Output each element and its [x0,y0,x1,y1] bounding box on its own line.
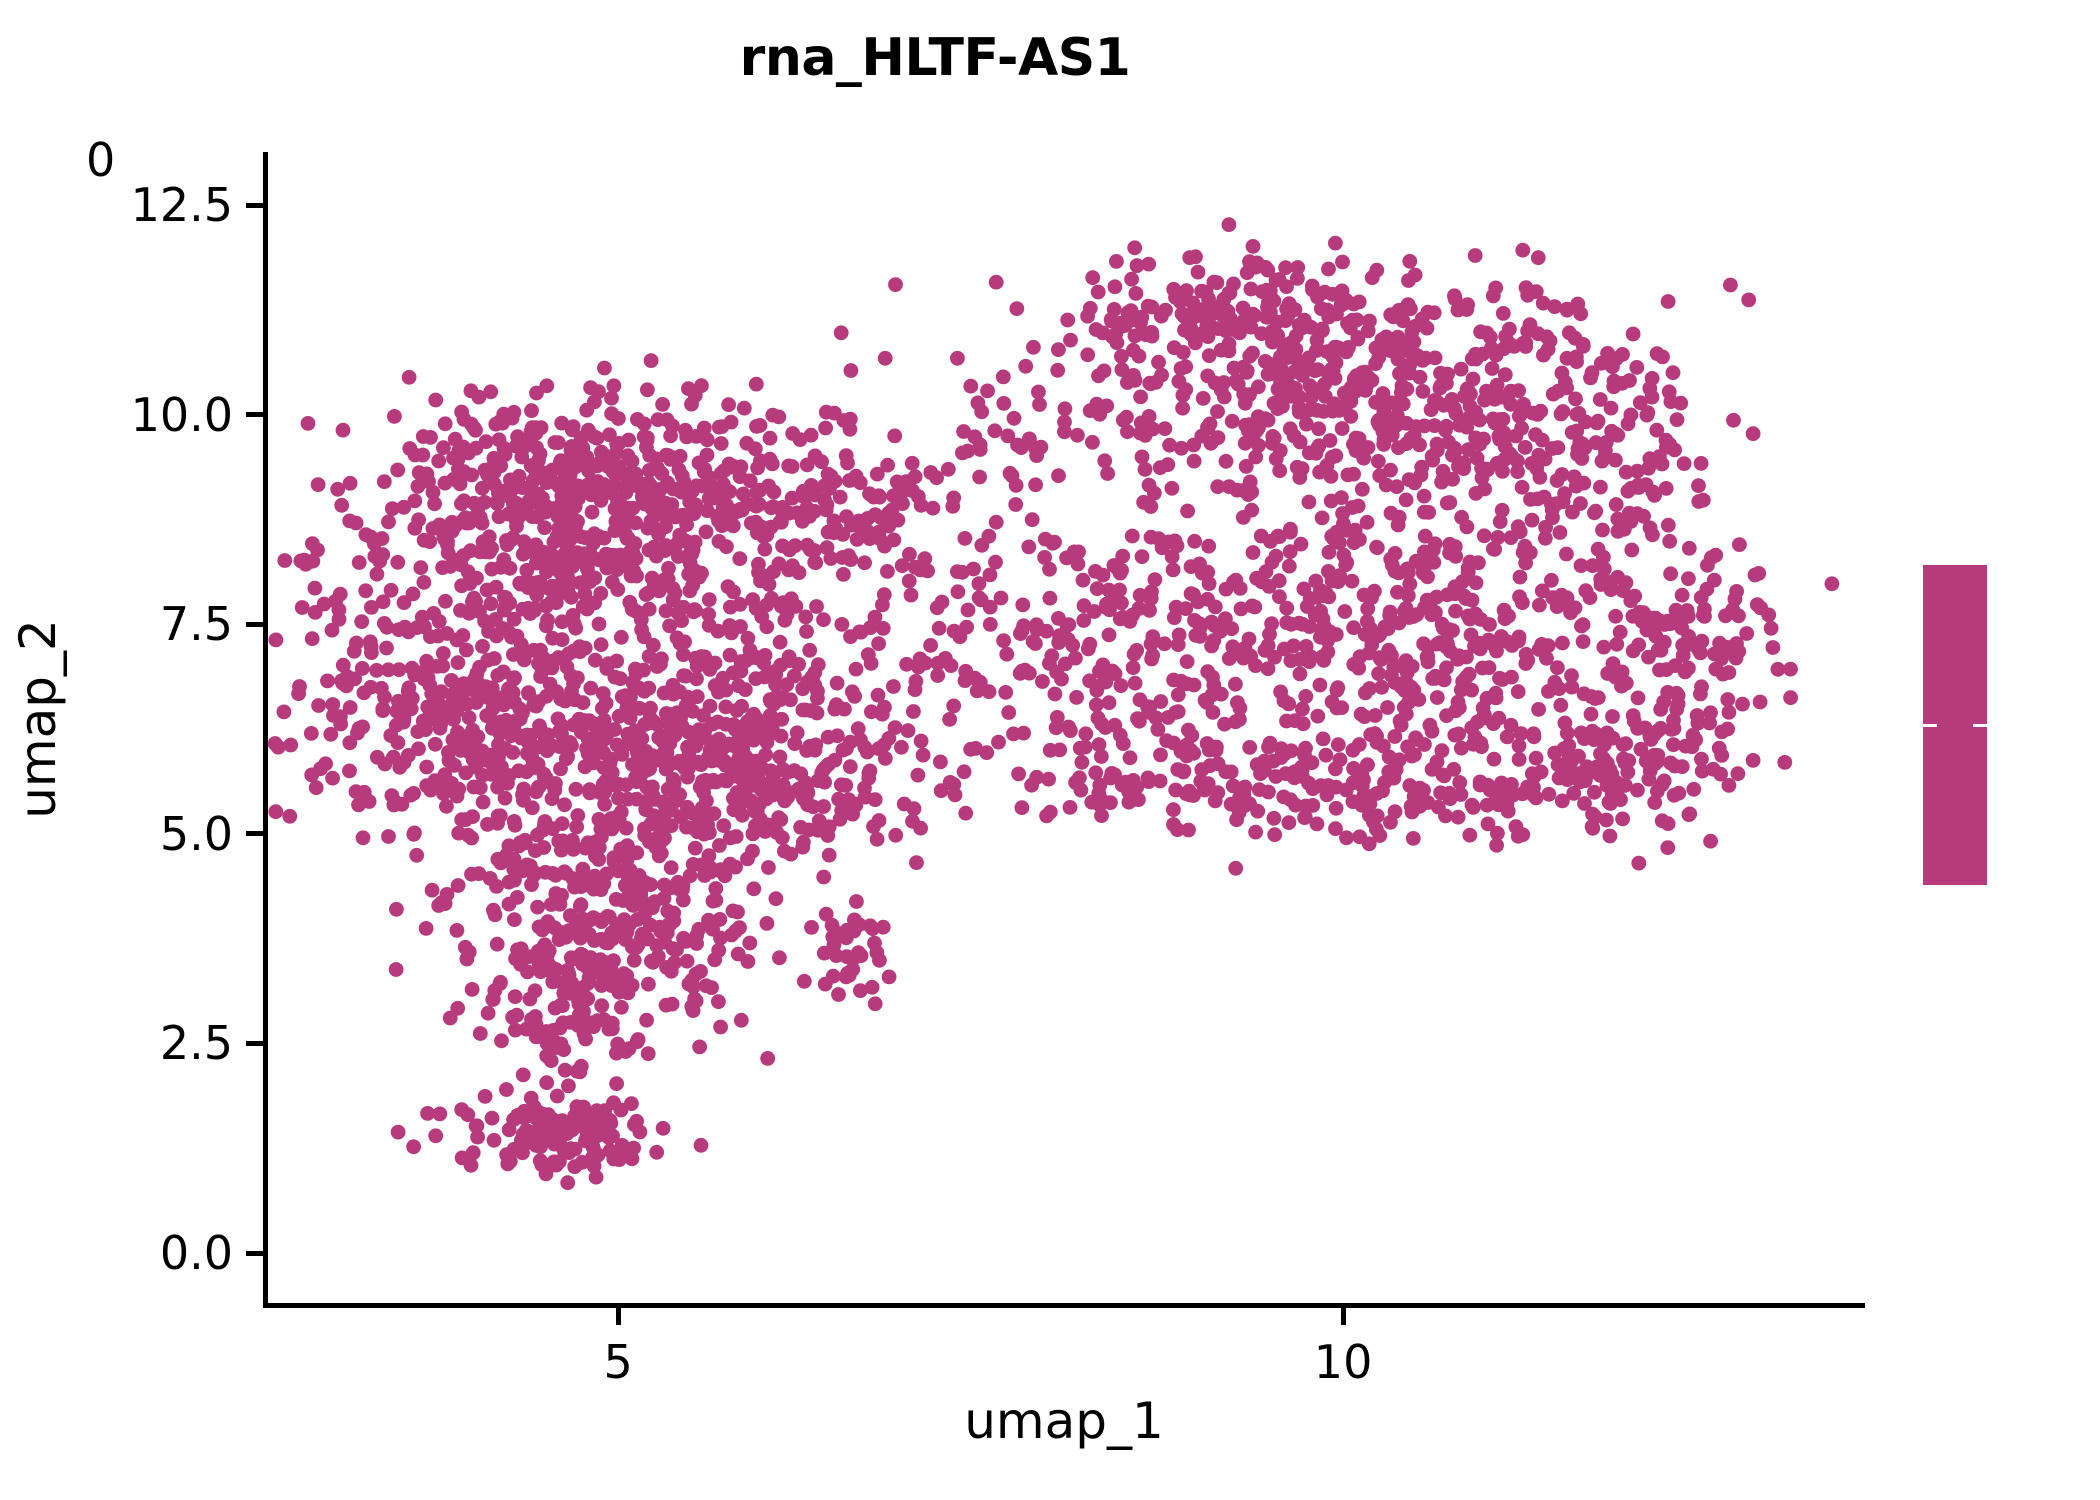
scatter-point [1108,279,1123,294]
scatter-point [1534,765,1549,780]
scatter-point [640,382,655,397]
scatter-point [886,533,901,548]
scatter-point [692,722,707,737]
scatter-point [1045,536,1060,551]
scatter-point [987,423,1002,438]
scatter-point [1370,540,1385,555]
scatter-point [723,648,738,663]
scatter-point [1655,350,1670,365]
scatter-point [1298,741,1313,756]
scatter-point [1479,326,1494,341]
scatter-point [471,866,486,881]
scatter-point [679,430,694,445]
scatter-point [1250,804,1265,819]
scatter-point [1360,757,1375,772]
scatter-point [1187,534,1202,549]
scatter-point [334,674,349,689]
scatter-point [629,845,644,860]
scatter-point [1319,748,1334,763]
scatter-point [1365,270,1380,285]
scatter-point [1362,646,1377,661]
scatter-point [983,617,998,632]
scatter-point [612,709,627,724]
scatter-point [811,657,826,672]
scatter-point [1206,705,1221,720]
scatter-point [1015,598,1030,613]
scatter-point [676,647,691,662]
scatter-point [283,738,298,753]
scatter-point [1015,664,1030,679]
scatter-point [1573,306,1588,321]
scatter-point [381,515,396,530]
scatter-point [1248,825,1263,840]
scatter-point [652,584,667,599]
x-tick-mark [1341,1308,1346,1325]
scatter-point [295,600,310,615]
scatter-point [1021,540,1036,555]
scatter-point [726,904,741,919]
scatter-point [467,421,482,436]
scatter-point [453,603,468,618]
scatter-point [1011,767,1026,782]
scatter-point [1571,442,1586,457]
scatter-point [613,671,628,686]
scatter-point [677,761,692,776]
scatter-point [671,606,686,621]
scatter-point [1710,647,1725,662]
scatter-point [611,864,626,879]
scatter-point [491,485,506,500]
scatter-point [1222,217,1237,232]
scatter-point [545,791,560,806]
scatter-point [1663,756,1678,771]
scatter-point [617,554,632,569]
scatter-point [428,737,443,752]
scatter-point [1565,505,1580,520]
scatter-point [1277,693,1292,708]
scatter-point [711,994,726,1009]
scatter-point [1685,739,1700,754]
scatter-point [520,858,535,873]
scatter-point [932,621,947,636]
scatter-point [607,378,622,393]
scatter-point [870,467,885,482]
scatter-point [458,766,473,781]
scatter-point [484,562,499,577]
scatter-point [619,777,634,792]
scatter-point [1825,576,1840,591]
scatter-point [801,487,816,502]
scatter-point [389,962,404,977]
scatter-point [1466,800,1481,815]
scatter-point [351,798,366,813]
scatter-point [1504,777,1519,792]
scatter-point [1325,694,1340,709]
scatter-point [1283,792,1298,807]
scatter-point [827,525,842,540]
scatter-point [537,937,552,952]
scatter-point [1026,634,1041,649]
scatter-point [723,460,738,475]
scatter-point [905,814,920,829]
scatter-point [637,630,652,645]
scatter-point [1777,755,1792,770]
scatter-point [1477,528,1492,543]
scatter-point [1421,505,1436,520]
scatter-point [1451,810,1466,825]
scatter-point [358,583,373,598]
scatter-point [1339,830,1354,845]
scatter-point [1468,347,1483,362]
scatter-point [1488,416,1503,431]
scatter-point [1349,431,1364,446]
scatter-point [1343,409,1358,424]
scatter-point [1114,596,1129,611]
scatter-point [989,275,1004,290]
scatter-point [1702,716,1717,731]
colorbar-tick-left [1923,724,1937,727]
scatter-point [664,497,679,512]
scatter-point [1305,781,1320,796]
scatter-point [524,877,539,892]
scatter-point [597,477,612,492]
scatter-point [356,830,371,845]
scatter-point [1761,608,1776,623]
scatter-point [615,747,630,762]
scatter-point [1518,440,1533,455]
scatter-point [1029,617,1044,632]
scatter-point [1371,454,1386,469]
y-tick-label: 2.5 [33,1016,233,1070]
scatter-point [1135,450,1150,465]
scatter-point [1662,437,1677,452]
scatter-point [489,879,504,894]
scatter-point [1310,709,1325,724]
scatter-point [572,997,587,1012]
scatter-point [450,789,465,804]
scatter-point [494,1033,509,1048]
x-tick-label: 10 [1314,1335,1373,1389]
scatter-point [872,490,887,505]
scatter-point [1124,313,1139,328]
scatter-point [679,820,694,835]
scatter-point [277,705,292,720]
scatter-point [1783,690,1798,705]
scatter-point [401,625,416,640]
scatter-point [706,894,721,909]
scatter-point [1399,493,1414,508]
scatter-point [723,600,738,615]
scatter-point [436,646,451,661]
scatter-point [764,500,779,515]
scatter-point [1515,243,1530,258]
scatter-point [505,745,520,760]
scatter-point [623,875,638,890]
scatter-point [731,947,746,962]
scatter-point [642,543,657,558]
scatter-point [689,671,704,686]
scatter-point [1210,275,1225,290]
scatter-point [849,894,864,909]
scatter-point [643,701,658,716]
scatter-point [567,880,582,895]
scatter-point [412,465,427,480]
scatter-point [1663,566,1678,581]
scatter-point [567,616,582,631]
scatter-point [1632,605,1647,620]
scatter-point [529,784,544,799]
scatter-point [391,735,406,750]
scatter-point [989,515,1004,530]
scatter-point [1028,477,1043,492]
scatter-point [1051,611,1066,626]
scatter-point [545,579,560,594]
scatter-point [810,706,825,721]
scatter-point [665,997,680,1012]
scatter-point [507,814,522,829]
scatter-point [1448,549,1463,564]
scatter-point [1391,440,1406,455]
scatter-point [1099,399,1114,414]
scatter-point [309,780,324,795]
scatter-point [672,462,687,477]
scatter-point [1690,708,1705,723]
scatter-point [958,806,973,821]
scatter-point [575,862,590,877]
scatter-point [1562,325,1577,340]
scatter-point [551,435,566,450]
scatter-point [1748,568,1763,583]
scatter-point [1516,545,1531,560]
scatter-point [1108,327,1123,342]
scatter-point [413,560,428,575]
scatter-point [1447,586,1462,601]
scatter-point [1107,767,1122,782]
scatter-point [1205,670,1220,685]
scatter-point [1535,433,1550,448]
scatter-point [1425,724,1440,739]
scatter-point [759,619,774,634]
scatter-point [638,875,653,890]
scatter-point [465,982,480,997]
scatter-point [349,784,364,799]
scatter-point [458,940,473,955]
scatter-point [476,795,491,810]
scatter-point [407,521,422,536]
scatter-point [1178,382,1193,397]
scatter-point [1394,718,1409,733]
scatter-point [1455,574,1470,589]
scatter-point [744,516,759,531]
scatter-point [1360,515,1375,530]
scatter-point [1558,375,1573,390]
scatter-point [1512,752,1527,767]
scatter-point [1269,451,1284,466]
scatter-point [505,1010,520,1025]
scatter-point [1531,250,1546,265]
scatter-point [590,458,605,473]
scatter-point [1407,476,1422,491]
scatter-point [1228,677,1243,692]
scatter-point [614,630,629,645]
scatter-point [515,787,530,802]
scatter-point [269,633,284,648]
scatter-point [864,656,879,671]
scatter-point [1031,385,1046,400]
scatter-point [745,844,760,859]
scatter-point [482,529,497,544]
scatter-point [640,433,655,448]
scatter-point [649,938,664,953]
scatter-point [605,575,620,590]
scatter-point [1186,788,1201,803]
scatter-point [756,656,771,671]
scatter-point [1520,288,1535,303]
scatter-point [790,725,805,740]
scatter-point [555,816,570,831]
scatter-point [816,870,831,885]
scatter-point [1101,583,1116,598]
colorbar[interactable] [1923,565,1987,885]
scatter-point [913,563,928,578]
scatter-point [1200,369,1215,384]
scatter-point [499,1082,514,1097]
scatter-point [1383,307,1398,322]
scatter-point [1085,270,1100,285]
scatter-point [951,584,966,599]
scatter-point [1326,531,1341,546]
scatter-point [1102,628,1117,643]
scatter-point [768,677,783,692]
scatter-point [531,656,546,671]
scatter-point [1166,802,1181,817]
scatter-point [1293,652,1308,667]
scatter-point [1503,397,1518,412]
scatter-point [631,1032,646,1047]
scatter-point [797,974,812,989]
scatter-point [691,922,706,937]
scatter-point [1075,755,1090,770]
scatter-point [950,351,965,366]
scatter-point [1100,466,1115,481]
scatter-point [748,671,763,686]
scatter-point [1262,627,1277,642]
scatter-point [688,603,703,618]
scatter-point [1585,724,1600,739]
scatter-point [1114,563,1129,578]
scatter-point [1585,558,1600,573]
scatter-point [1714,725,1729,740]
scatter-point [1491,711,1506,726]
scatter-point [764,591,779,606]
scatter-point [521,685,536,700]
scatter-point [1334,298,1349,313]
scatter-point [271,740,286,755]
scatter-point [1250,757,1265,772]
scatter-point [1295,702,1310,717]
scatter-point [530,900,545,915]
scatter-point [512,469,527,484]
scatter-point [652,920,667,935]
scatter-point [697,462,712,477]
scatter-point [1523,492,1538,507]
scatter-point [1428,536,1443,551]
scatter-point [1183,743,1198,758]
scatter-point [1126,343,1141,358]
scatter-point [1559,547,1574,562]
scatter-point [572,639,587,654]
scatter-point [775,830,790,845]
scatter-point [1553,698,1568,713]
scatter-point [688,841,703,856]
scatter-point [430,659,445,674]
scatter-point [592,617,607,632]
scatter-point [857,555,872,570]
scatter-point [629,759,644,774]
scatter-point [517,653,532,668]
scatter-point [550,1089,565,1104]
scatter-point [1691,478,1706,493]
scatter-point [1174,674,1189,689]
scatter-point [1560,726,1575,741]
scatter-point [764,520,779,535]
scatter-point [1089,698,1104,713]
scatter-point [554,1037,569,1052]
scatter-point [461,828,476,843]
scatter-point [1102,695,1117,710]
scatter-point [761,860,776,875]
scatter-point [1225,414,1240,429]
scatter-point [493,414,508,429]
scatter-point [477,614,492,629]
scatter-point [757,542,772,557]
scatter-point [564,590,579,605]
scatter-point [304,726,319,741]
scatter-point [1263,534,1278,549]
scatter-point [1741,293,1756,308]
scatter-point [1335,255,1350,270]
scatter-point [1490,456,1505,471]
scatter-point [998,685,1013,700]
scatter-point [520,746,535,761]
scatter-point [519,563,534,578]
scatter-point [666,941,681,956]
scatter-point [1542,787,1557,802]
scatter-point [1239,459,1254,474]
scatter-point [692,813,707,828]
scatter-point [793,432,808,447]
scatter-point [961,603,976,618]
scatter-point [727,769,742,784]
scatter-point [807,678,822,693]
scatter-point [387,409,402,424]
scatter-point [1661,518,1676,533]
scatter-point [1515,480,1530,495]
scatter-point [642,649,657,664]
scatter-point [738,682,753,697]
scatter-point [1261,785,1276,800]
scatter-point [1202,348,1217,363]
scatter-point [1267,811,1282,826]
scatter-point [1579,765,1594,780]
scatter-point [1596,752,1611,767]
scatter-point [568,459,583,474]
scatter-point [1145,422,1160,437]
scatter-point [801,785,816,800]
scatter-point [466,780,481,795]
scatter-point [1044,648,1059,663]
scatter-point [1605,359,1620,374]
